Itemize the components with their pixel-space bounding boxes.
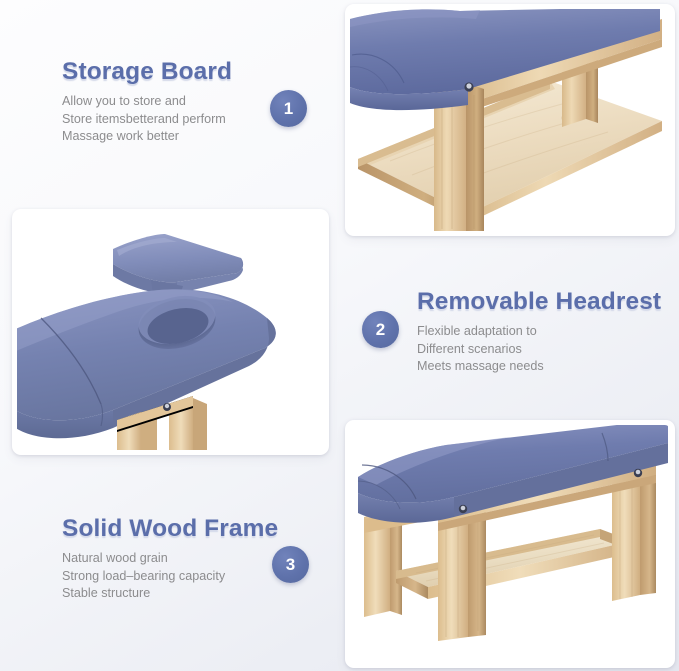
feature-title-storage-board: Storage Board <box>62 58 232 86</box>
solid-wood-frame-photo <box>350 425 670 663</box>
feature-block-storage-board: Storage Board Allow you to store and Sto… <box>62 58 232 146</box>
removable-headrest-photo <box>17 214 324 450</box>
feature-line: Stable structure <box>62 585 278 603</box>
feature-line: Strong load–bearing capacity <box>62 568 278 586</box>
infographic-stage: Storage Board Allow you to store and Sto… <box>0 0 679 671</box>
feature-number-badge-1: 1 <box>270 90 307 127</box>
feature-line: Different scenarios <box>417 341 661 359</box>
feature-line: Flexible adaptation to <box>417 323 661 341</box>
feature-description-storage-board: Allow you to store and Store itemsbetter… <box>62 93 232 146</box>
feature-line: Store itemsbetterand perform <box>62 111 232 129</box>
leg-fastener <box>163 403 171 411</box>
fastener-bolt <box>464 82 473 91</box>
feature-line: Allow you to store and <box>62 93 232 111</box>
feature-description-removable-headrest: Flexible adaptation to Different scenari… <box>417 323 661 376</box>
removable-headrest-photo-card <box>12 209 329 455</box>
storage-board-photo-card <box>345 4 675 236</box>
feature-block-removable-headrest: Removable Headrest Flexible adaptation t… <box>417 288 661 376</box>
storage-board-photo <box>350 9 670 231</box>
feature-title-removable-headrest: Removable Headrest <box>417 288 661 316</box>
feature-line: Natural wood grain <box>62 550 278 568</box>
feature-line: Massage work better <box>62 128 232 146</box>
storage-board-illustration <box>350 9 670 231</box>
feature-title-solid-wood-frame: Solid Wood Frame <box>62 515 278 543</box>
removable-headrest-illustration <box>17 214 324 450</box>
feature-block-solid-wood-frame: Solid Wood Frame Natural wood grain Stro… <box>62 515 278 603</box>
feature-number-badge-3: 3 <box>272 546 309 583</box>
feature-line: Meets massage needs <box>417 358 661 376</box>
solid-wood-frame-illustration <box>350 425 670 663</box>
solid-wood-frame-photo-card <box>345 420 675 668</box>
feature-number-badge-2: 2 <box>362 311 399 348</box>
feature-description-solid-wood-frame: Natural wood grain Strong load–bearing c… <box>62 550 278 603</box>
